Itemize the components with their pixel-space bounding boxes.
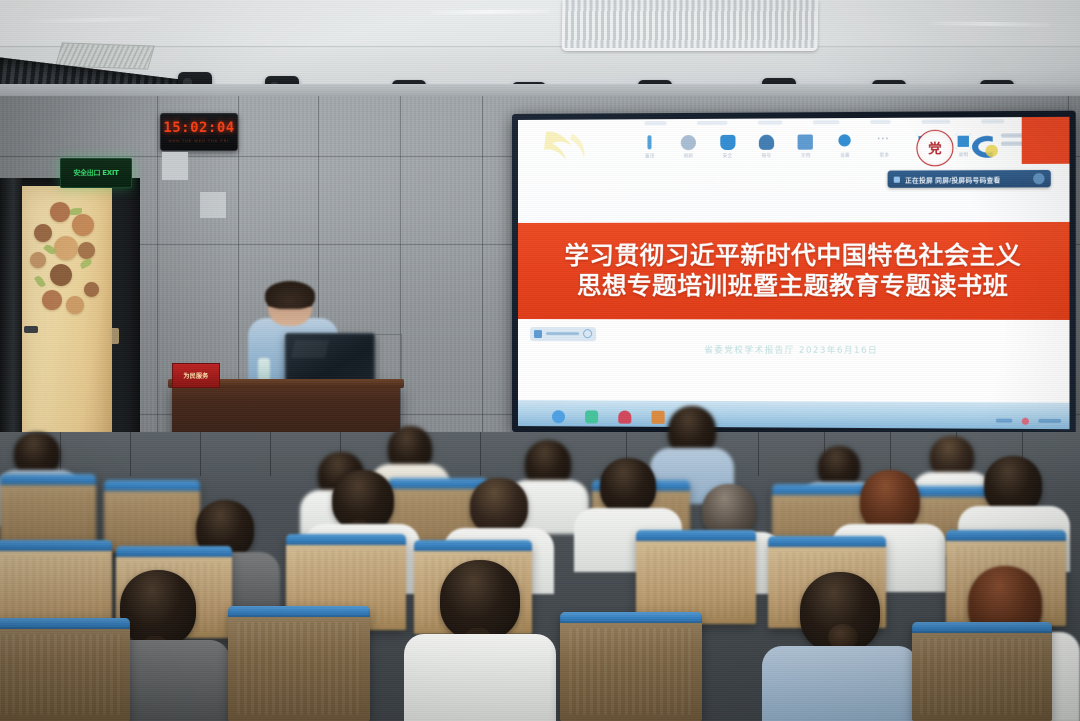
wall-art-circle (34, 224, 52, 242)
toolbar-label: 安全 (715, 153, 739, 159)
toolbar-item[interactable]: ⋯ 更多 (873, 124, 896, 149)
auditorium-seat[interactable] (912, 622, 1052, 721)
ceiling-ac-grille (562, 0, 819, 51)
exit-sign-label: 安全出口 EXIT (73, 168, 118, 178)
screen-share-tooltip[interactable]: 正在投屏 同屏/投屏码号码查看 (888, 170, 1051, 188)
pdf-icon[interactable] (652, 411, 665, 424)
red-institution-seal-icon: 党 (916, 130, 953, 167)
tooltip-icon (894, 176, 900, 182)
toolbar-item[interactable]: 设置 (833, 124, 856, 146)
wall-art-circle (42, 290, 62, 310)
wall-art-circle (78, 242, 95, 259)
more-icon[interactable]: ⋯ (877, 134, 892, 149)
auditorium-seat[interactable] (560, 612, 702, 721)
presenter-hair (265, 281, 315, 309)
projection-screen[interactable]: 置顶 刷新 安全 账号 (512, 111, 1076, 436)
slide-title-banner: 学习贯彻习近平新时代中国特色社会主义 思想专题培训班暨主题教育专题读书班 (518, 221, 1070, 319)
clock-weekday-row: MON TUE WED THU FRI (169, 139, 230, 143)
wall-art-circle (54, 236, 78, 260)
toolbar-label: 文档 (793, 153, 817, 159)
wall-art-circle (72, 214, 94, 236)
toolbar-item[interactable]: 账号 (755, 125, 778, 150)
seal-glyph: 党 (928, 141, 941, 154)
wall-art-circle (50, 202, 70, 222)
person-icon[interactable] (759, 135, 774, 150)
toolbar-item[interactable]: 置顶 (638, 125, 661, 149)
auditorium-seat[interactable] (228, 606, 370, 721)
toolbar-item[interactable]: 文档 (794, 124, 817, 149)
slide-footer-area: 省委党校学术报告厅 2023年6月16日 (518, 319, 1070, 429)
exit-sign: 安全出口 EXIT (60, 158, 132, 188)
shield-icon[interactable] (720, 135, 735, 150)
auditorium-seat[interactable] (0, 618, 130, 721)
screen-content: 置顶 刷新 安全 账号 (518, 117, 1070, 429)
wall-art-circle (84, 282, 99, 297)
document-icon[interactable] (798, 134, 813, 149)
wall-box (162, 152, 188, 180)
toolbar-label: 更多 (872, 152, 897, 158)
auditorium-seat[interactable] (636, 530, 756, 624)
slide-header-area: 置顶 刷新 安全 账号 (518, 117, 1070, 223)
door-hinge (24, 326, 38, 333)
slide-title-line-1: 学习贯彻习近平新时代中国特色社会主义 (564, 242, 1021, 270)
wall-art-circle (66, 296, 84, 314)
pin-icon[interactable] (648, 135, 652, 149)
slide-title-line-2: 思想专题培训班暨主题教育专题读书班 (577, 272, 1009, 300)
clock-time: 15:02:04 (163, 121, 234, 135)
lectern-sign-text: 为民服务 (183, 371, 208, 380)
screen-bezel: 置顶 刷新 安全 账号 (512, 111, 1076, 436)
blue-c-logo-icon (966, 129, 1001, 164)
ceiling (0, 0, 1080, 96)
browser-icon[interactable] (552, 410, 565, 423)
digital-led-clock: 15:02:04 MON TUE WED THU FRI (160, 113, 238, 151)
toolbar-item[interactable]: 安全 (716, 125, 739, 150)
slide-subtitle: 省委党校学术报告厅 2023年6月16日 (518, 343, 1070, 357)
refresh-icon[interactable] (681, 135, 696, 150)
party-emblem-icon (532, 123, 604, 185)
wps-statusbar-chip[interactable] (530, 327, 596, 341)
ceiling-slab (0, 0, 1080, 47)
tooltip-action-icon[interactable] (1033, 173, 1044, 184)
notes-icon[interactable] (585, 410, 598, 423)
tooltip-text: 正在投屏 同屏/投屏码号码查看 (905, 174, 1001, 184)
wall-art-circle (50, 264, 72, 286)
toolbar-label: 账号 (754, 153, 778, 159)
accent-block (1022, 117, 1070, 164)
door-handle[interactable] (110, 328, 119, 344)
circle-icon[interactable] (839, 134, 851, 146)
wall-art-circle (30, 252, 46, 268)
taskbar-tray[interactable] (996, 418, 1061, 425)
lectern-red-sign: 为民服务 (172, 363, 220, 388)
auditorium-seat[interactable] (104, 480, 200, 552)
os-taskbar[interactable] (518, 400, 1070, 429)
auditorium-seat[interactable] (0, 474, 96, 550)
photo-scene: 安全出口 EXIT 15:02:04 MON TUE WED THU FRI (0, 0, 1080, 721)
taskbar-apps[interactable] (552, 410, 665, 424)
toolbar-label: 刷新 (676, 153, 700, 159)
toolbar-item[interactable]: 刷新 (677, 125, 700, 150)
wps-icon[interactable] (618, 411, 631, 424)
toolbar-label: 置顶 (638, 153, 662, 159)
toolbar-label: 设置 (833, 152, 858, 158)
